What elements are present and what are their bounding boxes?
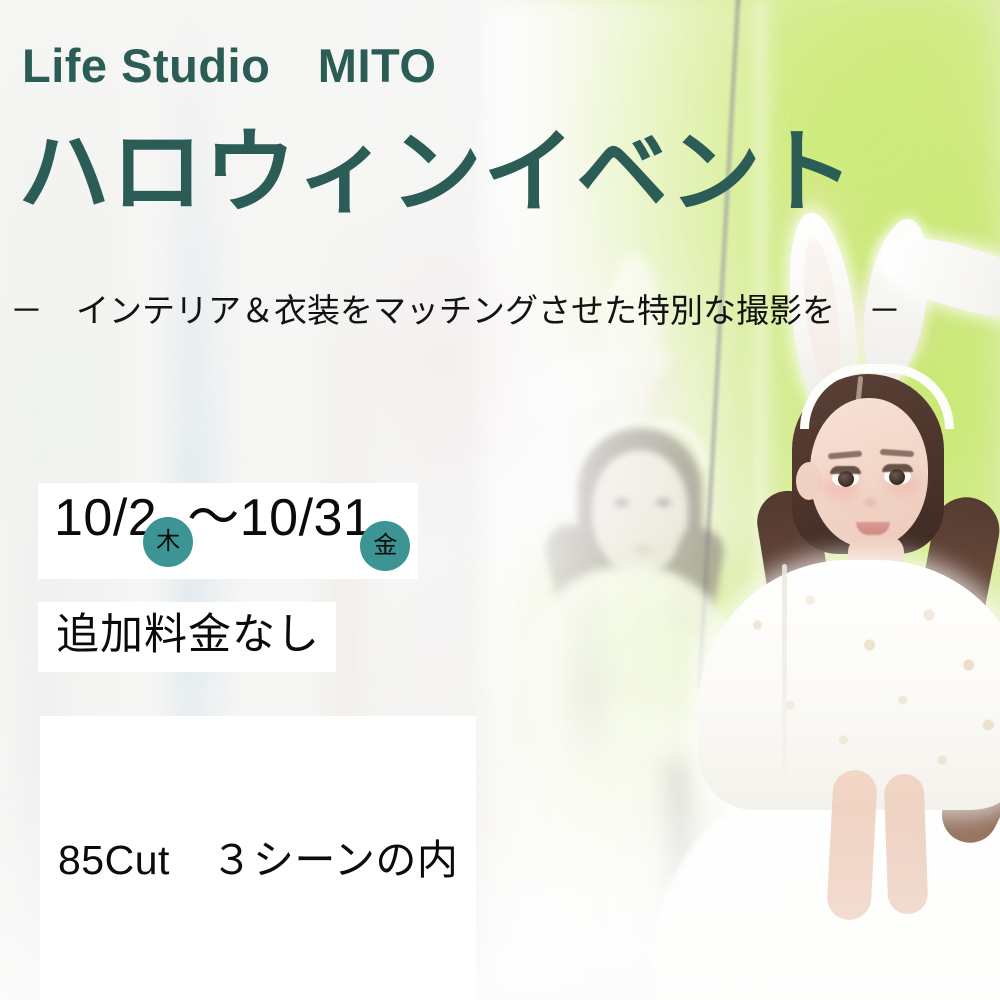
date-start: 10/2 [54,489,157,547]
cut-count-line-2: 1着を撮影できます [58,997,458,1000]
page-title: ハロウィンイベント [18,124,855,223]
date-range-box: 10/2木〜10/31金 [38,483,418,579]
weekday-badge-start: 木 [143,517,193,567]
date-end: 10/31 [240,489,373,547]
text-overlay: Life Studio MITO ハロウィンイベント － インテリア＆衣装をマッ… [0,0,1000,1000]
date-separator: 〜 [187,489,240,547]
weekday-badge-end: 金 [360,521,410,571]
cut-count-box: 85Cut ３シーンの内 1着を撮影できます [40,716,476,1000]
studio-brand-title: Life Studio MITO [22,42,436,89]
subtitle: － インテリア＆衣装をマッチングさせた特別な撮影を － [10,293,992,329]
cut-count-line-1: 85Cut ３シーンの内 [58,833,458,888]
fee-note-box: 追加料金なし [38,602,336,672]
halloween-event-poster: Life Studio MITO ハロウィンイベント － インテリア＆衣装をマッ… [0,0,1000,1000]
